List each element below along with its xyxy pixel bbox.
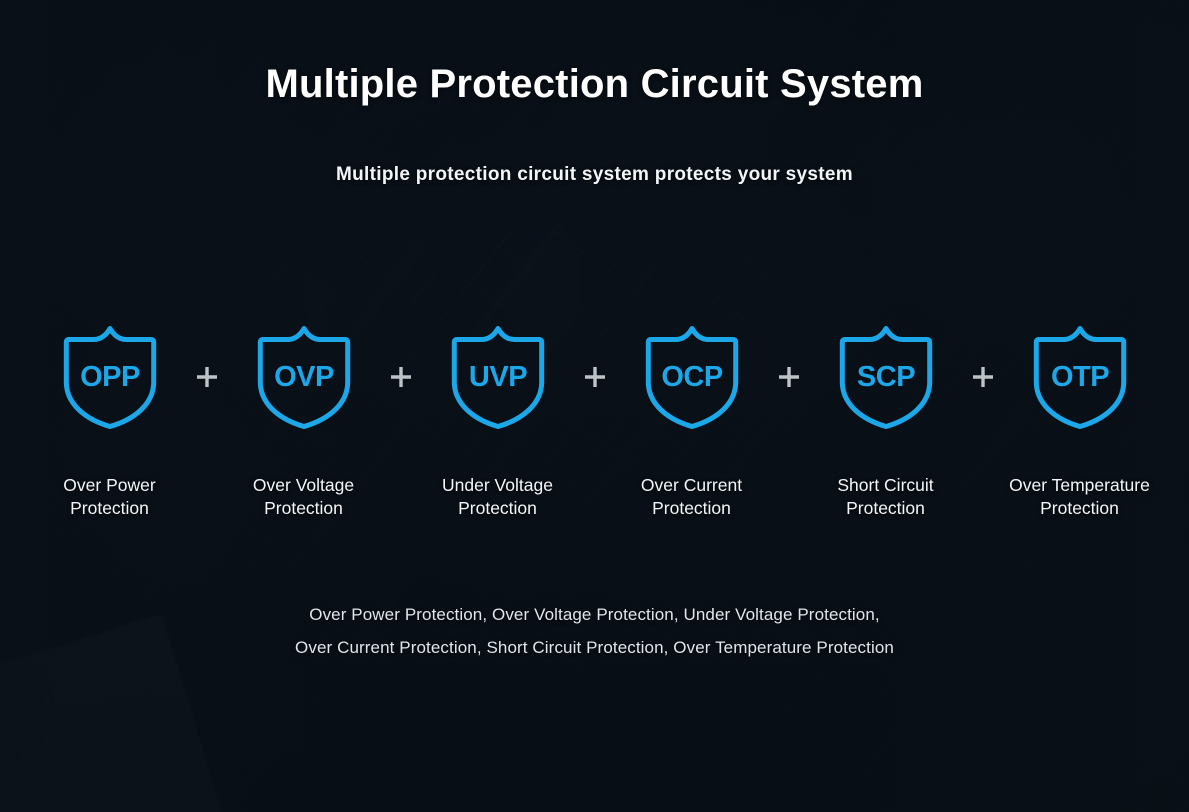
protection-label: Under Voltage Protection bbox=[442, 474, 553, 520]
shield-abbr-label: OTP bbox=[1050, 361, 1108, 393]
shield-abbr-label: OVP bbox=[274, 361, 334, 393]
shield-icon: OCP bbox=[642, 318, 742, 436]
shield-icon: SCP bbox=[836, 318, 936, 436]
page-subtitle: Multiple protection circuit system prote… bbox=[0, 164, 1189, 186]
protection-item-ocp: OCP Over Current Protection bbox=[610, 318, 773, 520]
shield-abbr-label: SCP bbox=[856, 361, 914, 393]
protection-label: Over Voltage Protection bbox=[253, 474, 354, 520]
plus-icon bbox=[385, 318, 416, 436]
protection-label: Short Circuit Protection bbox=[837, 474, 933, 520]
summary-caption: Over Power Protection, Over Voltage Prot… bbox=[0, 598, 1189, 664]
protection-item-ovp: OVP Over Voltage Protection bbox=[222, 318, 385, 520]
caption-line-1: Over Power Protection, Over Voltage Prot… bbox=[0, 598, 1189, 631]
shield-icon: UVP bbox=[448, 318, 548, 436]
plus-icon bbox=[579, 318, 610, 436]
plus-icon bbox=[967, 318, 998, 436]
protection-item-uvp: UVP Under Voltage Protection bbox=[416, 318, 579, 520]
shield-icon: OPP bbox=[60, 318, 160, 436]
protection-label: Over Temperature Protection bbox=[1009, 474, 1150, 520]
protection-item-otp: OTP Over Temperature Protection bbox=[998, 318, 1161, 520]
caption-line-2: Over Current Protection, Short Circuit P… bbox=[0, 631, 1189, 664]
protection-label: Over Current Protection bbox=[641, 474, 742, 520]
plus-icon bbox=[773, 318, 804, 436]
banner-content: Multiple Protection Circuit System Multi… bbox=[0, 0, 1189, 812]
shield-icon: OTP bbox=[1030, 318, 1130, 436]
promo-banner: PQ32/30 SB14.2 Multiple Protection Circu… bbox=[0, 0, 1189, 812]
shield-icon: OVP bbox=[254, 318, 354, 436]
protection-item-scp: SCP Short Circuit Protection bbox=[804, 318, 967, 520]
protection-list: OPP Over Power Protection OVP Ove bbox=[0, 318, 1189, 520]
page-title: Multiple Protection Circuit System bbox=[0, 62, 1189, 107]
protection-label: Over Power Protection bbox=[63, 474, 155, 520]
shield-abbr-label: UVP bbox=[468, 361, 526, 393]
shield-abbr-label: OPP bbox=[80, 361, 140, 393]
plus-icon bbox=[191, 318, 222, 436]
protection-item-opp: OPP Over Power Protection bbox=[28, 318, 191, 520]
shield-abbr-label: OCP bbox=[661, 361, 723, 393]
